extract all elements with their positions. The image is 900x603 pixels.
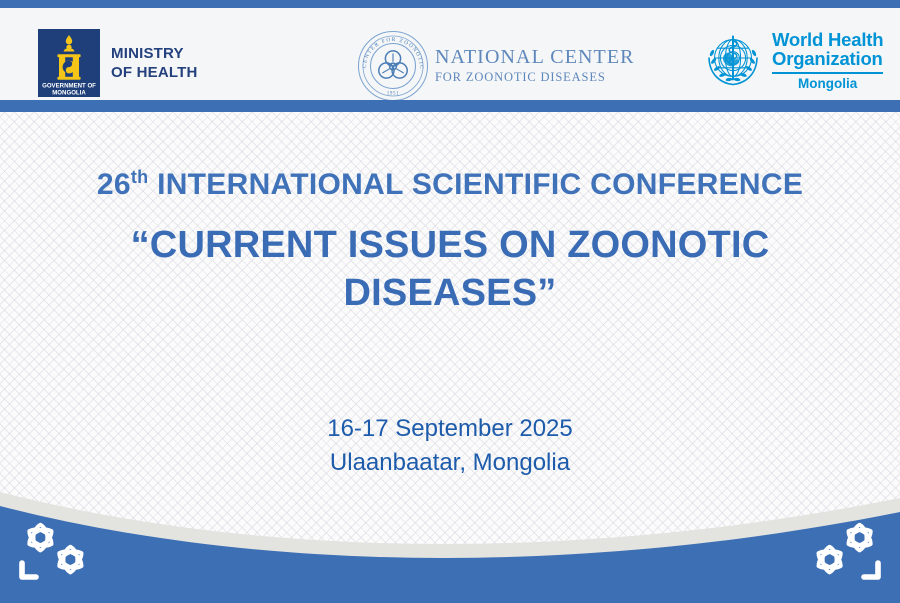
moh-name-line1: MINISTRY — [111, 44, 198, 63]
who-name: World Health Organization Mongolia — [772, 30, 883, 91]
event-dates: 16-17 September 2025 — [0, 412, 900, 446]
ncz-name-line2: FOR ZOONOTIC DISEASES — [435, 71, 635, 84]
ministry-of-health-name: MINISTRY OF HEALTH — [111, 44, 198, 82]
conference-ordinal: 26 — [97, 168, 131, 201]
conference-title-text: INTERNATIONAL SCIENTIFIC CONFERENCE — [148, 168, 803, 201]
who-name-line2: Organization — [772, 49, 883, 69]
header-accent-rule — [0, 100, 900, 112]
moh-name-line2: OF HEALTH — [111, 63, 198, 82]
conference-theme: “CURRENT ISSUES ON ZOONOTIC DISEASES” — [0, 221, 900, 318]
moh-badge-line2: MONGOLIA — [52, 90, 86, 97]
conference-title: 26th INTERNATIONAL SCIENTIFIC CONFERENCE — [0, 168, 900, 201]
who-divider — [772, 72, 883, 74]
conference-title-slide: GOVERNMENT OF MONGOLIA MINISTRY OF HEALT… — [0, 0, 900, 603]
ncz-name-line1: NATIONAL CENTER — [435, 47, 635, 68]
biohazard-seal-icon: NATIONAL CENTER FOR ZOONOTIC DISEASES 19… — [355, 28, 431, 104]
logo-national-center-zoonotic-diseases: NATIONAL CENTER FOR ZOONOTIC DISEASES 19… — [355, 28, 635, 104]
logo-world-health-organization: World Health Organization Mongolia — [702, 29, 883, 91]
title-block: 26th INTERNATIONAL SCIENTIFIC CONFERENCE… — [0, 168, 900, 318]
conference-ordinal-suffix: th — [131, 167, 149, 187]
who-country-label: Mongolia — [772, 77, 883, 91]
top-accent-rule — [0, 0, 900, 8]
footer-wave — [0, 458, 900, 603]
ncz-seal-year: 1951 — [387, 92, 399, 97]
soyombo-emblem: GOVERNMENT OF MONGOLIA — [38, 29, 100, 97]
who-globe-asclepius-icon — [702, 29, 764, 91]
mongolian-ulzii-knot-ornament-right — [800, 517, 886, 590]
moh-badge-line1: GOVERNMENT OF — [42, 83, 96, 90]
logo-ministry-of-health: GOVERNMENT OF MONGOLIA MINISTRY OF HEALT… — [38, 29, 198, 97]
who-name-line1: World Health — [772, 30, 883, 50]
national-center-name: NATIONAL CENTER FOR ZOONOTIC DISEASES — [435, 47, 635, 84]
mongolian-ulzii-knot-ornament-left — [14, 517, 100, 590]
logo-header-band: GOVERNMENT OF MONGOLIA MINISTRY OF HEALT… — [0, 8, 900, 100]
